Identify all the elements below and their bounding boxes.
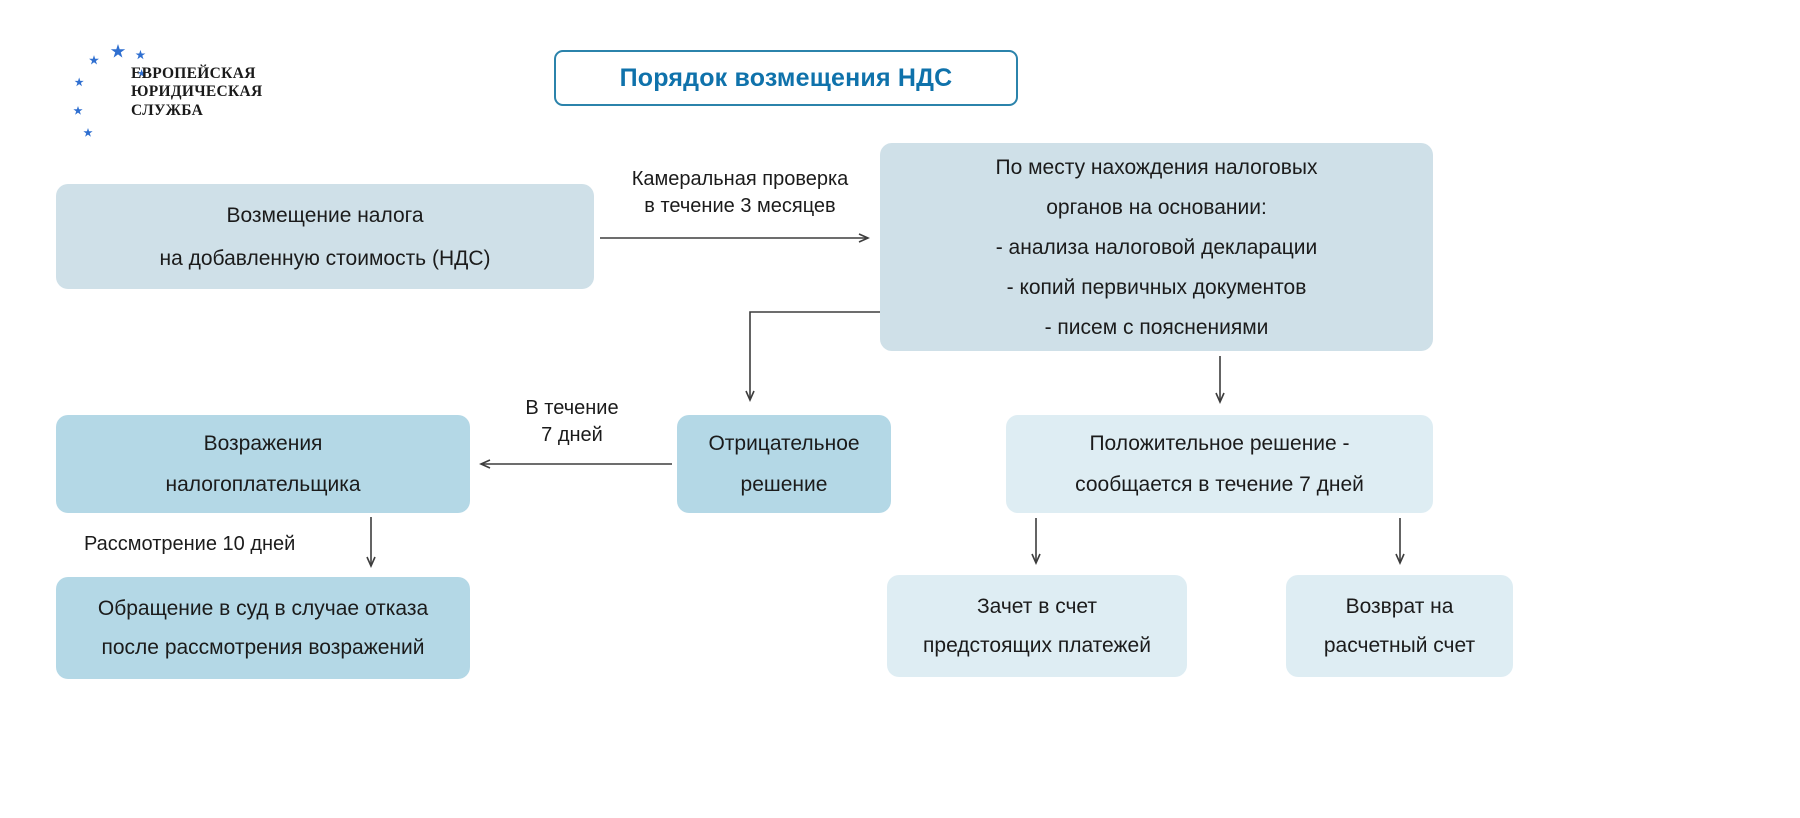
- node-vat-refund-line-1: Возмещение налога: [226, 205, 423, 226]
- edge-label-seven-days: В течение 7 дней: [498, 395, 646, 449]
- node-tax-authority-location-line-1: По месту нахождения налоговых: [996, 157, 1318, 178]
- node-vat-refund-line-2: на добавленную стоимость (НДС): [160, 248, 491, 269]
- node-tax-authority-location-line-5: - писем с пояснениями: [1045, 317, 1269, 338]
- logo-line-3: СЛУЖБА: [131, 102, 263, 120]
- logo-wordmark: ЕВРОПЕЙСКАЯ ЮРИДИЧЕСКАЯ СЛУЖБА: [131, 65, 263, 120]
- node-offset-future-payments-line-2: предстоящих платежей: [923, 635, 1151, 656]
- node-refund-to-account-line-2: расчетный счет: [1324, 635, 1475, 656]
- node-negative-decision-line-1: Отрицательное: [708, 433, 859, 454]
- node-positive-decision-line-1: Положительное решение -: [1089, 433, 1349, 454]
- node-taxpayer-objections-line-1: Возражения: [204, 433, 323, 454]
- node-tax-authority-location-line-2: органов на основании:: [1046, 197, 1267, 218]
- edge-label-ten-days: Рассмотрение 10 дней: [84, 531, 350, 558]
- edge-label-seven-days-line-2: 7 дней: [498, 422, 646, 449]
- node-offset-future-payments: Зачет в счет предстоящих платежей: [887, 575, 1187, 677]
- page-title: Порядок возмещения НДС: [554, 50, 1018, 106]
- edge-location-to-negative: [750, 312, 880, 400]
- edge-label-desk-audit-line-2: в течение 3 месяцев: [606, 193, 874, 220]
- node-court-appeal: Обращение в суд в случае отказа после ра…: [56, 577, 470, 679]
- node-taxpayer-objections-line-2: налогоплательщика: [165, 474, 360, 495]
- logo-line-2: ЮРИДИЧЕСКАЯ: [131, 83, 263, 101]
- logo-line-1: ЕВРОПЕЙСКАЯ: [131, 65, 263, 83]
- edge-label-desk-audit: Камеральная проверка в течение 3 месяцев: [606, 166, 874, 220]
- diagram-canvas: ЕВРОПЕЙСКАЯ ЮРИДИЧЕСКАЯ СЛУЖБА Порядок в…: [0, 0, 1800, 818]
- node-vat-refund: Возмещение налога на добавленную стоимос…: [56, 184, 594, 289]
- page-title-text: Порядок возмещения НДС: [620, 64, 953, 93]
- node-court-appeal-line-1: Обращение в суд в случае отказа: [98, 598, 428, 619]
- node-tax-authority-location: По месту нахождения налоговых органов на…: [880, 143, 1433, 351]
- node-tax-authority-location-line-4: - копий первичных документов: [1007, 277, 1307, 298]
- node-tax-authority-location-line-3: - анализа налоговой декларации: [996, 237, 1318, 258]
- company-logo: ЕВРОПЕЙСКАЯ ЮРИДИЧЕСКАЯ СЛУЖБА: [58, 38, 298, 138]
- node-offset-future-payments-line-1: Зачет в счет: [977, 596, 1097, 617]
- node-taxpayer-objections: Возражения налогоплательщика: [56, 415, 470, 513]
- node-court-appeal-line-2: после рассмотрения возражений: [102, 637, 425, 658]
- node-negative-decision-line-2: решение: [741, 474, 828, 495]
- edge-label-seven-days-line-1: В течение: [498, 395, 646, 422]
- edge-label-ten-days-line-1: Рассмотрение 10 дней: [84, 531, 350, 558]
- node-negative-decision: Отрицательное решение: [677, 415, 891, 513]
- node-positive-decision-line-2: сообщается в течение 7 дней: [1075, 474, 1364, 495]
- edge-label-desk-audit-line-1: Камеральная проверка: [606, 166, 874, 193]
- node-refund-to-account: Возврат на расчетный счет: [1286, 575, 1513, 677]
- node-positive-decision: Положительное решение - сообщается в теч…: [1006, 415, 1433, 513]
- node-refund-to-account-line-1: Возврат на: [1346, 596, 1454, 617]
